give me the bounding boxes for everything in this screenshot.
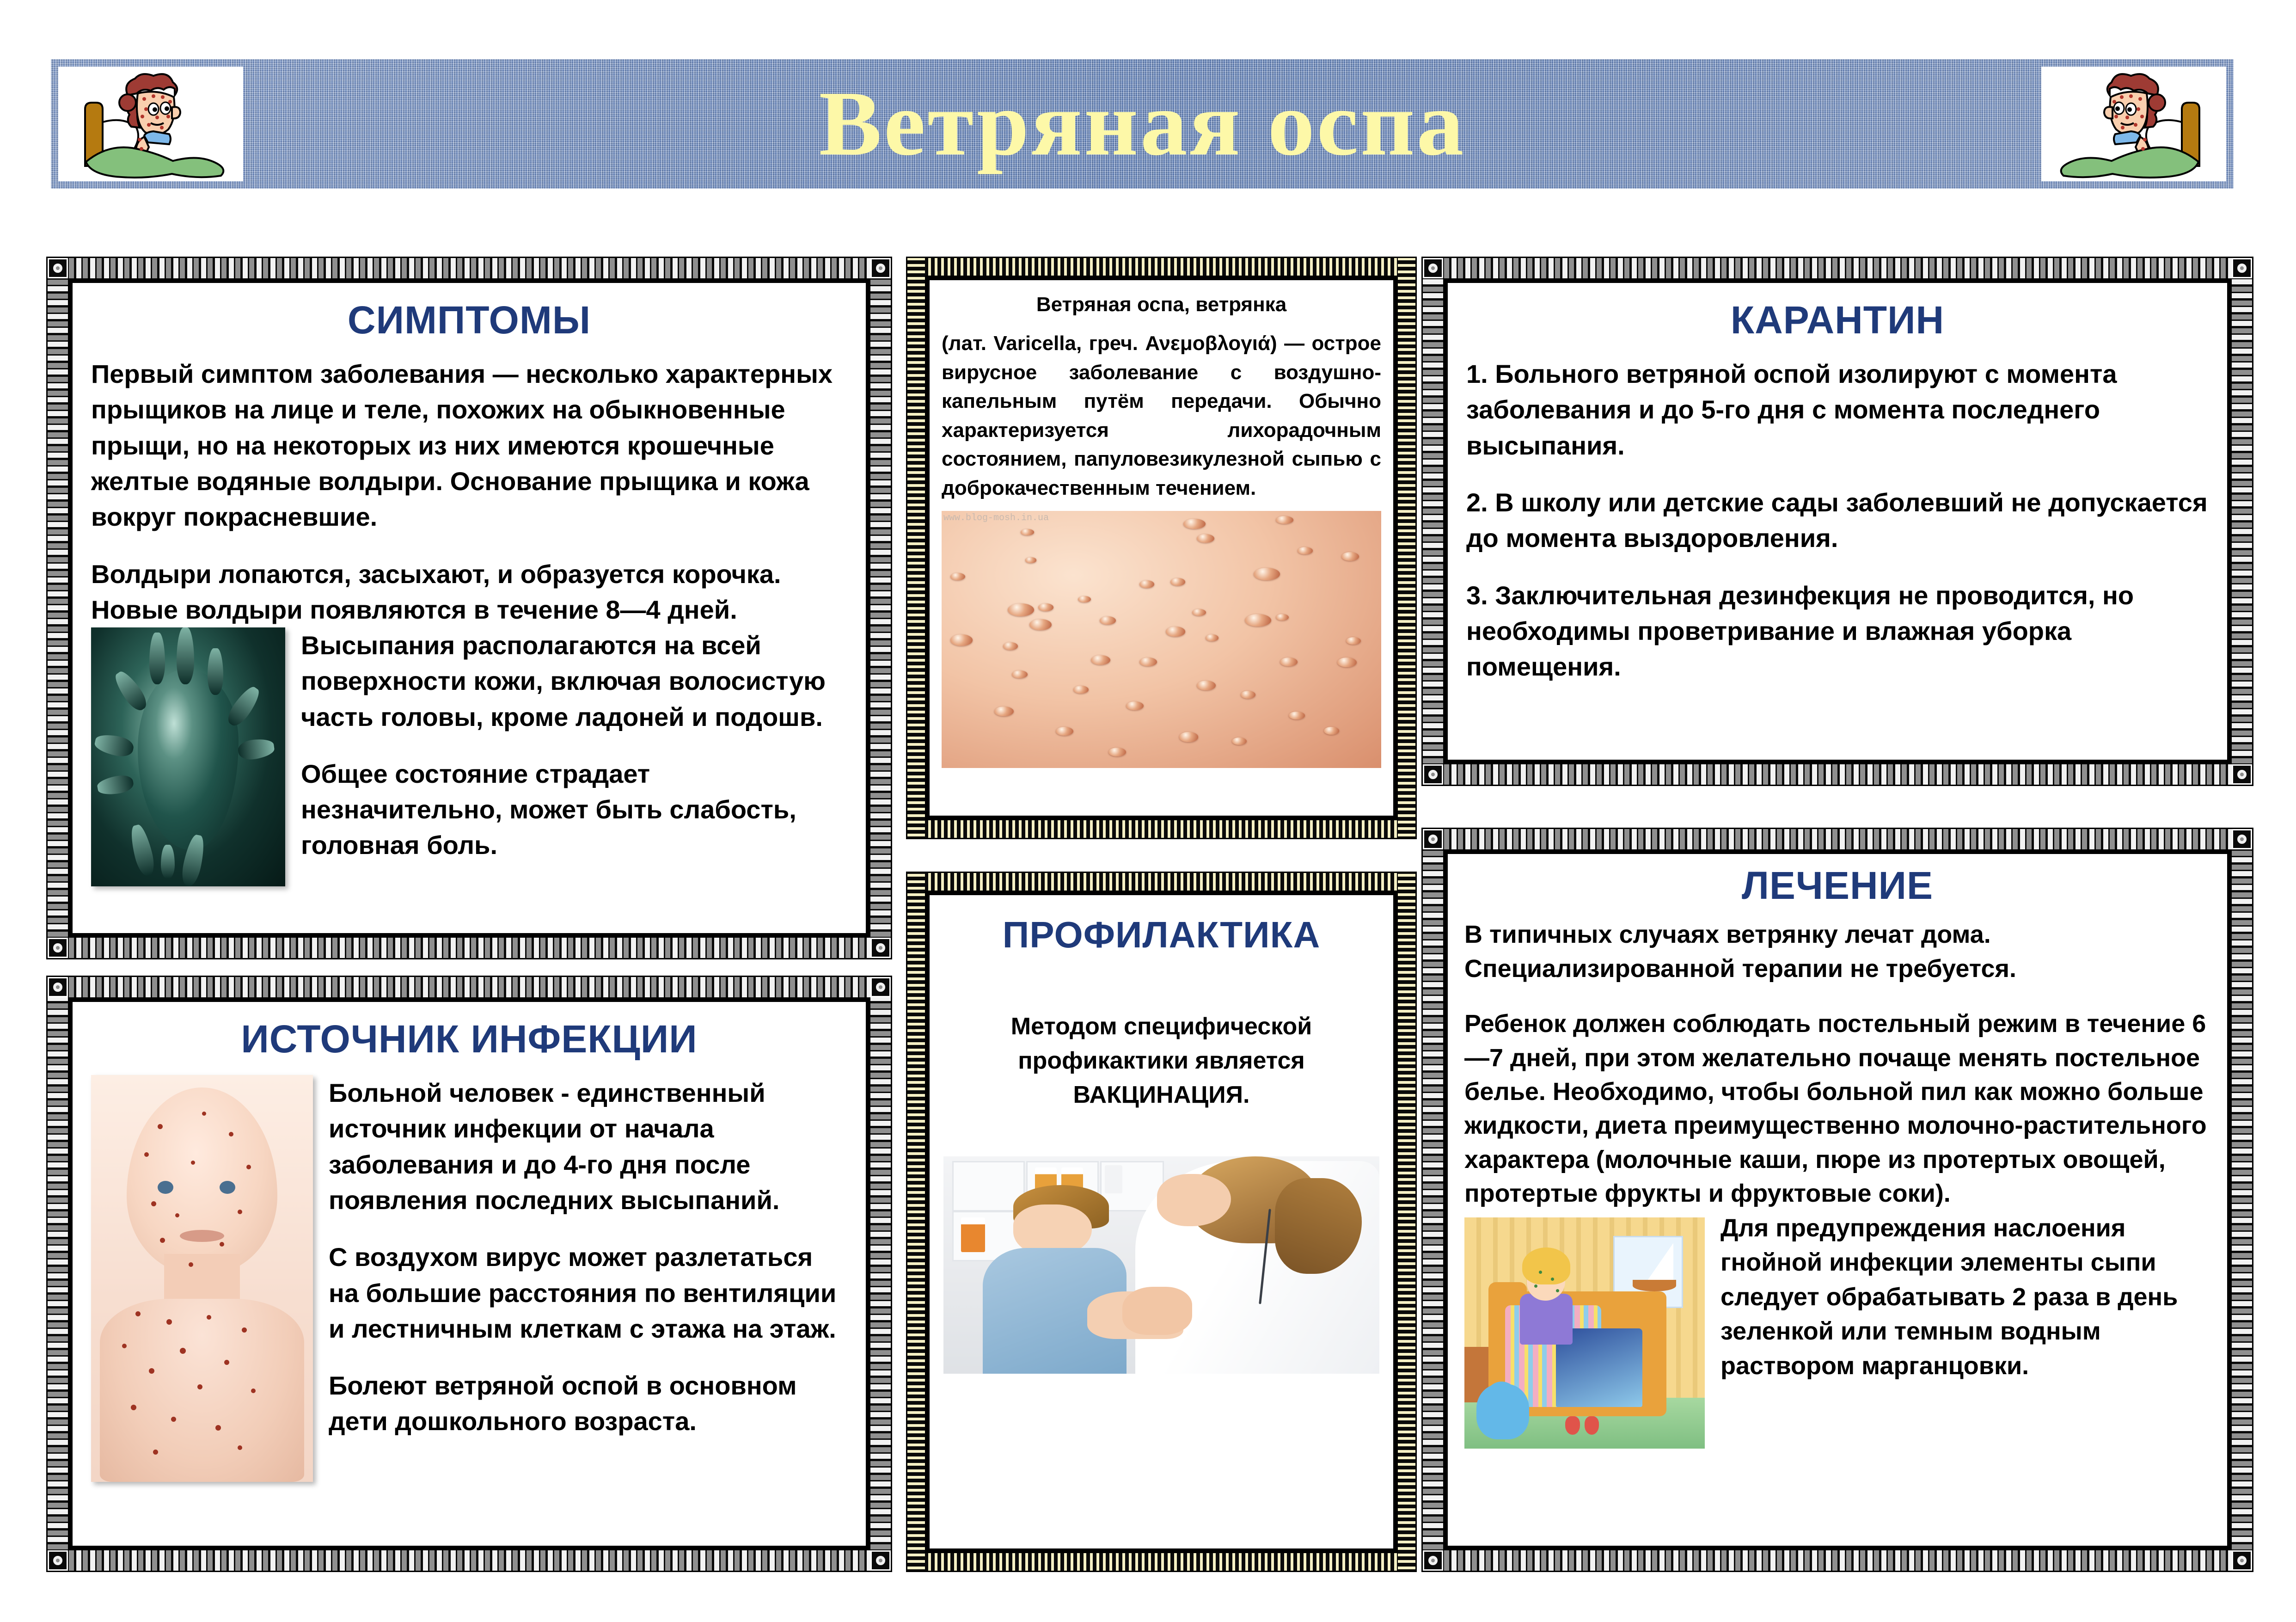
frame-border-top [1423, 258, 2252, 278]
section-heading-prevention: ПРОФИЛАКТИКА [943, 915, 1379, 954]
frame-border-left [907, 873, 925, 1571]
frame-border-top [48, 977, 891, 997]
frame-border-right [1398, 873, 1415, 1571]
frame-corner-ring-icon [1423, 764, 1443, 785]
section-heading-source: ИСТОЧНИК ИНФЕКЦИИ [91, 1019, 847, 1059]
definition-title-line: Ветряная оспа, ветрянка [942, 290, 1381, 319]
sick-child-in-bed-illustration-right [2041, 67, 2226, 181]
panel-source-of-infection: ИСТОЧНИК ИНФЕКЦИИ [46, 976, 892, 1572]
panel-prevention-body: ПРОФИЛАКТИКА Методом специфической профи… [929, 894, 1394, 1549]
frame-border-right [870, 977, 891, 1571]
frame-border-right [2232, 829, 2252, 1571]
virus-micrograph-image [91, 627, 285, 886]
frame-border-left [48, 977, 68, 1571]
frame-corner-ring-icon [1423, 1550, 1443, 1571]
symptoms-paragraph-1: Первый симптом заболевания — несколько х… [91, 356, 847, 535]
frame-corner-ring-icon [48, 977, 68, 997]
treatment-paragraph-2: Ребенок должен соблюдать постельный режи… [1464, 1007, 2210, 1211]
child-in-bed-icon [2041, 67, 2226, 181]
quarantine-item-3: 3. Заключительная дезинфекция не проводи… [1466, 578, 2209, 685]
section-heading-quarantine: КАРАНТИН [1466, 300, 2209, 340]
frame-border-top [907, 258, 1415, 276]
section-heading-symptoms: СИМПТОМЫ [91, 300, 847, 340]
panel-quarantine: КАРАНТИН 1. Больного ветряной оспой изол… [1421, 257, 2253, 786]
symptoms-paragraph-2: Волдыри лопаются, засыхают, и образуется… [91, 556, 847, 628]
panel-prevention: ПРОФИЛАКТИКА Методом специфической профи… [906, 872, 1417, 1572]
definition-body-text: (лат. Varicella, греч. Ανεμοβλογιά) — ос… [942, 332, 1381, 499]
panel-symptoms-body: СИМПТОМЫ Первый симптом заболевания — не… [72, 282, 867, 934]
frame-border-top [1423, 829, 2252, 849]
sick-child-in-bed-illustration-left [58, 67, 243, 181]
frame-corner-ring-icon [870, 938, 891, 958]
frame-corner-ring-icon [2232, 1550, 2252, 1571]
frame-corner-ring-icon [48, 258, 68, 278]
child-chickenpox-photo [91, 1075, 313, 1482]
frame-corner-ring-icon [870, 1550, 891, 1571]
panel-quarantine-body: КАРАНТИН 1. Больного ветряной оспой изол… [1447, 282, 2228, 761]
frame-corner-ring-icon [1423, 829, 1443, 849]
frame-corner-ring-icon [870, 258, 891, 278]
frame-border-left [1423, 258, 1443, 785]
frame-border-top [48, 258, 891, 278]
frame-corner-ring-icon [48, 1550, 68, 1571]
panel-symptoms: СИМПТОМЫ Первый симптом заболевания — не… [46, 257, 892, 959]
frame-corner-ring-icon [2232, 258, 2252, 278]
frame-border-bottom [1423, 1550, 2252, 1571]
panel-definition: Ветряная оспа, ветрянка (лат. Varicella,… [906, 257, 1417, 839]
frame-border-bottom [48, 1550, 891, 1571]
frame-border-right [2232, 258, 2252, 785]
frame-border-bottom [907, 820, 1415, 838]
girl-sick-in-bed-cartoon [1464, 1217, 1705, 1449]
frame-corner-ring-icon [1423, 258, 1443, 278]
frame-corner-ring-icon [2232, 829, 2252, 849]
prevention-body-text: Методом специфической профикактики являе… [943, 1010, 1379, 1112]
frame-border-left [48, 258, 68, 958]
panel-treatment-body: ЛЕЧЕНИЕ В типичных случаях ветрянку леча… [1447, 853, 2228, 1547]
quarantine-item-1: 1. Больного ветряной оспой изолируют с м… [1466, 356, 2209, 463]
frame-border-bottom [907, 1553, 1415, 1571]
vaccination-photo [943, 1156, 1379, 1374]
panel-treatment: ЛЕЧЕНИЕ В типичных случаях ветрянку леча… [1421, 828, 2253, 1572]
chickenpox-rash-photo: www.blog-mosh.in.ua [942, 511, 1381, 768]
frame-border-right [1398, 258, 1415, 838]
child-in-bed-icon [58, 67, 243, 181]
frame-border-left [1423, 829, 1443, 1571]
frame-corner-ring-icon [870, 977, 891, 997]
section-heading-treatment: ЛЕЧЕНИЕ [1464, 865, 2210, 906]
frame-border-bottom [48, 938, 891, 958]
frame-border-left [907, 258, 925, 838]
page-title: Ветряная оспа [233, 78, 2051, 170]
poster-header: Ветряная оспа [51, 59, 2234, 189]
frame-border-bottom [1423, 764, 2252, 785]
frame-border-right [870, 258, 891, 958]
frame-border-top [907, 873, 1415, 891]
quarantine-item-2: 2. В школу или детские сады заболевший н… [1466, 485, 2209, 556]
panel-source-body: ИСТОЧНИК ИНФЕКЦИИ [72, 1001, 867, 1547]
image-watermark: www.blog-mosh.in.ua [943, 513, 1049, 523]
frame-corner-ring-icon [48, 938, 68, 958]
frame-corner-ring-icon [2232, 764, 2252, 785]
treatment-paragraph-1: В типичных случаях ветрянку лечат дома. … [1464, 918, 2210, 986]
panel-definition-body: Ветряная оспа, ветрянка (лат. Varicella,… [929, 279, 1394, 817]
